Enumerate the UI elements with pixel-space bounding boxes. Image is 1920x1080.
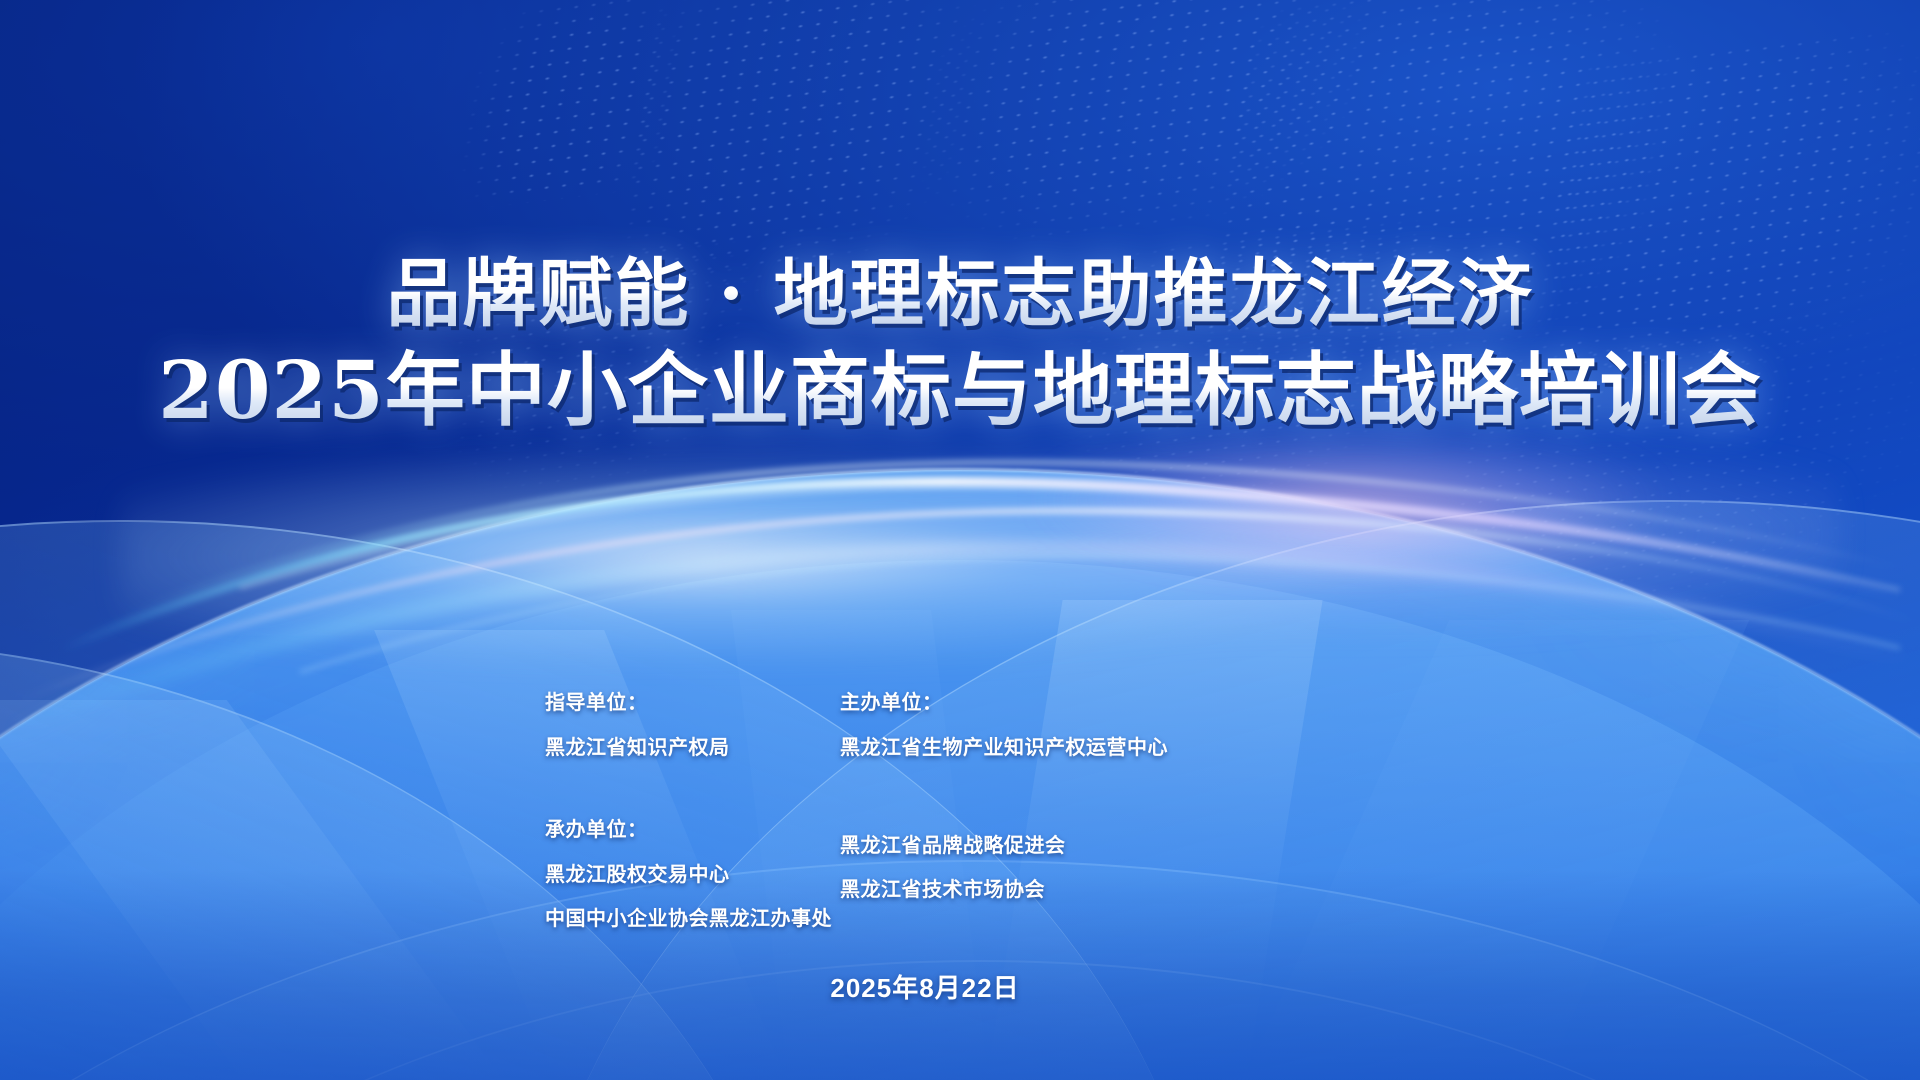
credit-group-guidance: 指导单位： 黑龙江省知识产权局 主办单位： 黑龙江省生物产业知识产权运营中心	[545, 686, 1305, 775]
credit-column-left: 指导单位： 黑龙江省知识产权局	[545, 686, 840, 775]
poster-title-block: 品牌赋能 · 地理标志助推龙江经济 2025年中小企业商标与地理标志战略培训会	[0, 248, 1920, 440]
dot-cluster	[900, 0, 1380, 264]
poster-title-line-1: 品牌赋能 · 地理标志助推龙江经济	[0, 248, 1920, 340]
credit-column-right: 黑龙江省品牌战略促进会 黑龙江省技术市场协会	[840, 813, 1305, 946]
credit-column-left: 承办单位： 黑龙江股权交易中心 中国中小企业协会黑龙江办事处	[545, 813, 840, 946]
event-date: 2025年8月22日	[545, 968, 1305, 1005]
credit-item-host-1: 黑龙江省生物产业知识产权运营中心	[840, 731, 1305, 760]
dot-cluster	[448, 0, 701, 212]
organiser-credits-block: 指导单位： 黑龙江省知识产权局 主办单位： 黑龙江省生物产业知识产权运营中心 承…	[545, 686, 1305, 946]
credit-group-spacer	[545, 775, 1305, 813]
light-glow-pink	[980, 420, 1800, 580]
poster-title-line-2: 2025年中小企业商标与地理标志战略培训会	[0, 340, 1920, 440]
credit-heading-guidance: 指导单位：	[545, 686, 840, 715]
credit-group-organiser: 承办单位： 黑龙江股权交易中心 中国中小企业协会黑龙江办事处 黑龙江省品牌战略促…	[545, 813, 1305, 946]
credit-heading-organiser: 承办单位：	[545, 813, 840, 842]
credit-item-organiser-2: 中国中小企业协会黑龙江办事处	[545, 902, 840, 931]
poster-canvas: 品牌赋能 · 地理标志助推龙江经济 2025年中小企业商标与地理标志战略培训会 …	[0, 0, 1920, 1080]
facet-panel	[0, 700, 510, 1080]
credit-item-organiser-1: 黑龙江股权交易中心	[545, 858, 840, 887]
credit-item-coorganiser-2: 黑龙江省技术市场协会	[840, 873, 1305, 902]
credit-heading-host: 主办单位：	[840, 686, 1305, 715]
credit-item-coorganiser-1: 黑龙江省品牌战略促进会	[840, 829, 1305, 858]
credit-column-right: 主办单位： 黑龙江省生物产业知识产权运营中心	[840, 686, 1305, 775]
light-glow-core	[120, 430, 1840, 660]
facet-panel	[1240, 620, 1749, 1080]
credit-item-guidance-1: 黑龙江省知识产权局	[545, 731, 840, 760]
